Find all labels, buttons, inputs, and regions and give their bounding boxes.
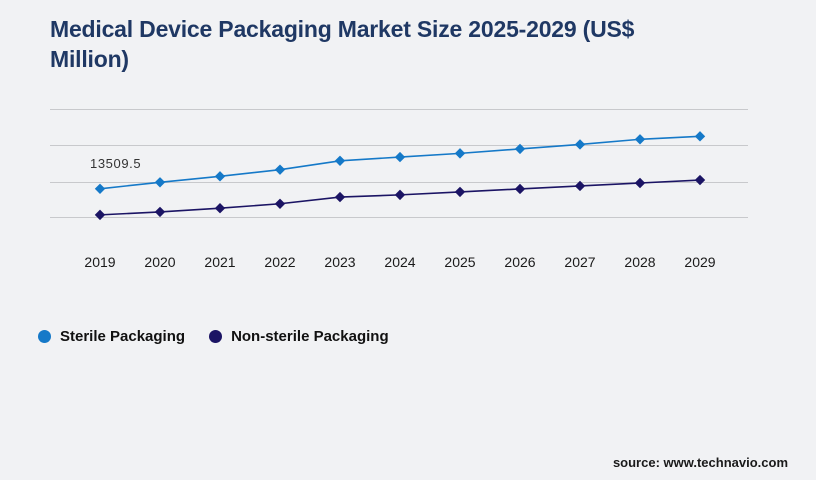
legend-item-2[interactable]: Non-sterile Packaging	[209, 328, 389, 345]
data-point-marker[interactable]	[515, 184, 525, 194]
x-axis: 2019202020212022202320242025202620272028…	[50, 254, 748, 274]
page-title: Medical Device Packaging Market Size 202…	[50, 14, 660, 74]
x-axis-tick-2019: 2019	[84, 254, 115, 270]
data-point-marker[interactable]	[635, 134, 645, 144]
series-plot	[50, 100, 748, 226]
data-point-marker[interactable]	[455, 148, 465, 158]
data-point-marker[interactable]	[695, 175, 705, 185]
data-point-marker[interactable]	[395, 190, 405, 200]
data-point-marker[interactable]	[95, 210, 105, 220]
legend-label: Non-sterile Packaging	[231, 328, 389, 345]
data-point-marker[interactable]	[395, 152, 405, 162]
data-point-marker[interactable]	[155, 207, 165, 217]
series-line	[100, 136, 700, 188]
data-point-marker[interactable]	[575, 139, 585, 149]
data-point-marker[interactable]	[575, 181, 585, 191]
legend-label: Sterile Packaging	[60, 328, 185, 345]
legend-marker-icon	[38, 330, 51, 343]
data-point-marker[interactable]	[275, 164, 285, 174]
x-axis-tick-2024: 2024	[384, 254, 415, 270]
x-axis-tick-2022: 2022	[264, 254, 295, 270]
data-label-2019-sterile: 13509.5	[90, 156, 141, 171]
source-note: source: www.technavio.com	[613, 455, 788, 470]
data-point-marker[interactable]	[215, 171, 225, 181]
legend-item-1[interactable]: Sterile Packaging	[38, 328, 185, 345]
data-point-marker[interactable]	[335, 156, 345, 166]
chart-canvas: Medical Device Packaging Market Size 202…	[0, 0, 816, 480]
x-axis-tick-2028: 2028	[624, 254, 655, 270]
data-point-marker[interactable]	[275, 199, 285, 209]
x-axis-tick-2023: 2023	[324, 254, 355, 270]
data-point-marker[interactable]	[335, 192, 345, 202]
chart-legend: Sterile PackagingNon-sterile Packaging	[38, 325, 413, 347]
data-point-marker[interactable]	[695, 131, 705, 141]
x-axis-tick-2025: 2025	[444, 254, 475, 270]
x-axis-tick-2027: 2027	[564, 254, 595, 270]
x-axis-tick-2026: 2026	[504, 254, 535, 270]
data-point-marker[interactable]	[95, 184, 105, 194]
x-axis-tick-2021: 2021	[204, 254, 235, 270]
data-point-marker[interactable]	[455, 187, 465, 197]
data-point-marker[interactable]	[215, 203, 225, 213]
data-point-marker[interactable]	[155, 177, 165, 187]
data-point-marker[interactable]	[635, 178, 645, 188]
x-axis-tick-2029: 2029	[684, 254, 715, 270]
x-axis-tick-2020: 2020	[144, 254, 175, 270]
plot-area: 13509.5	[50, 100, 748, 226]
data-point-marker[interactable]	[515, 144, 525, 154]
legend-marker-icon	[209, 330, 222, 343]
